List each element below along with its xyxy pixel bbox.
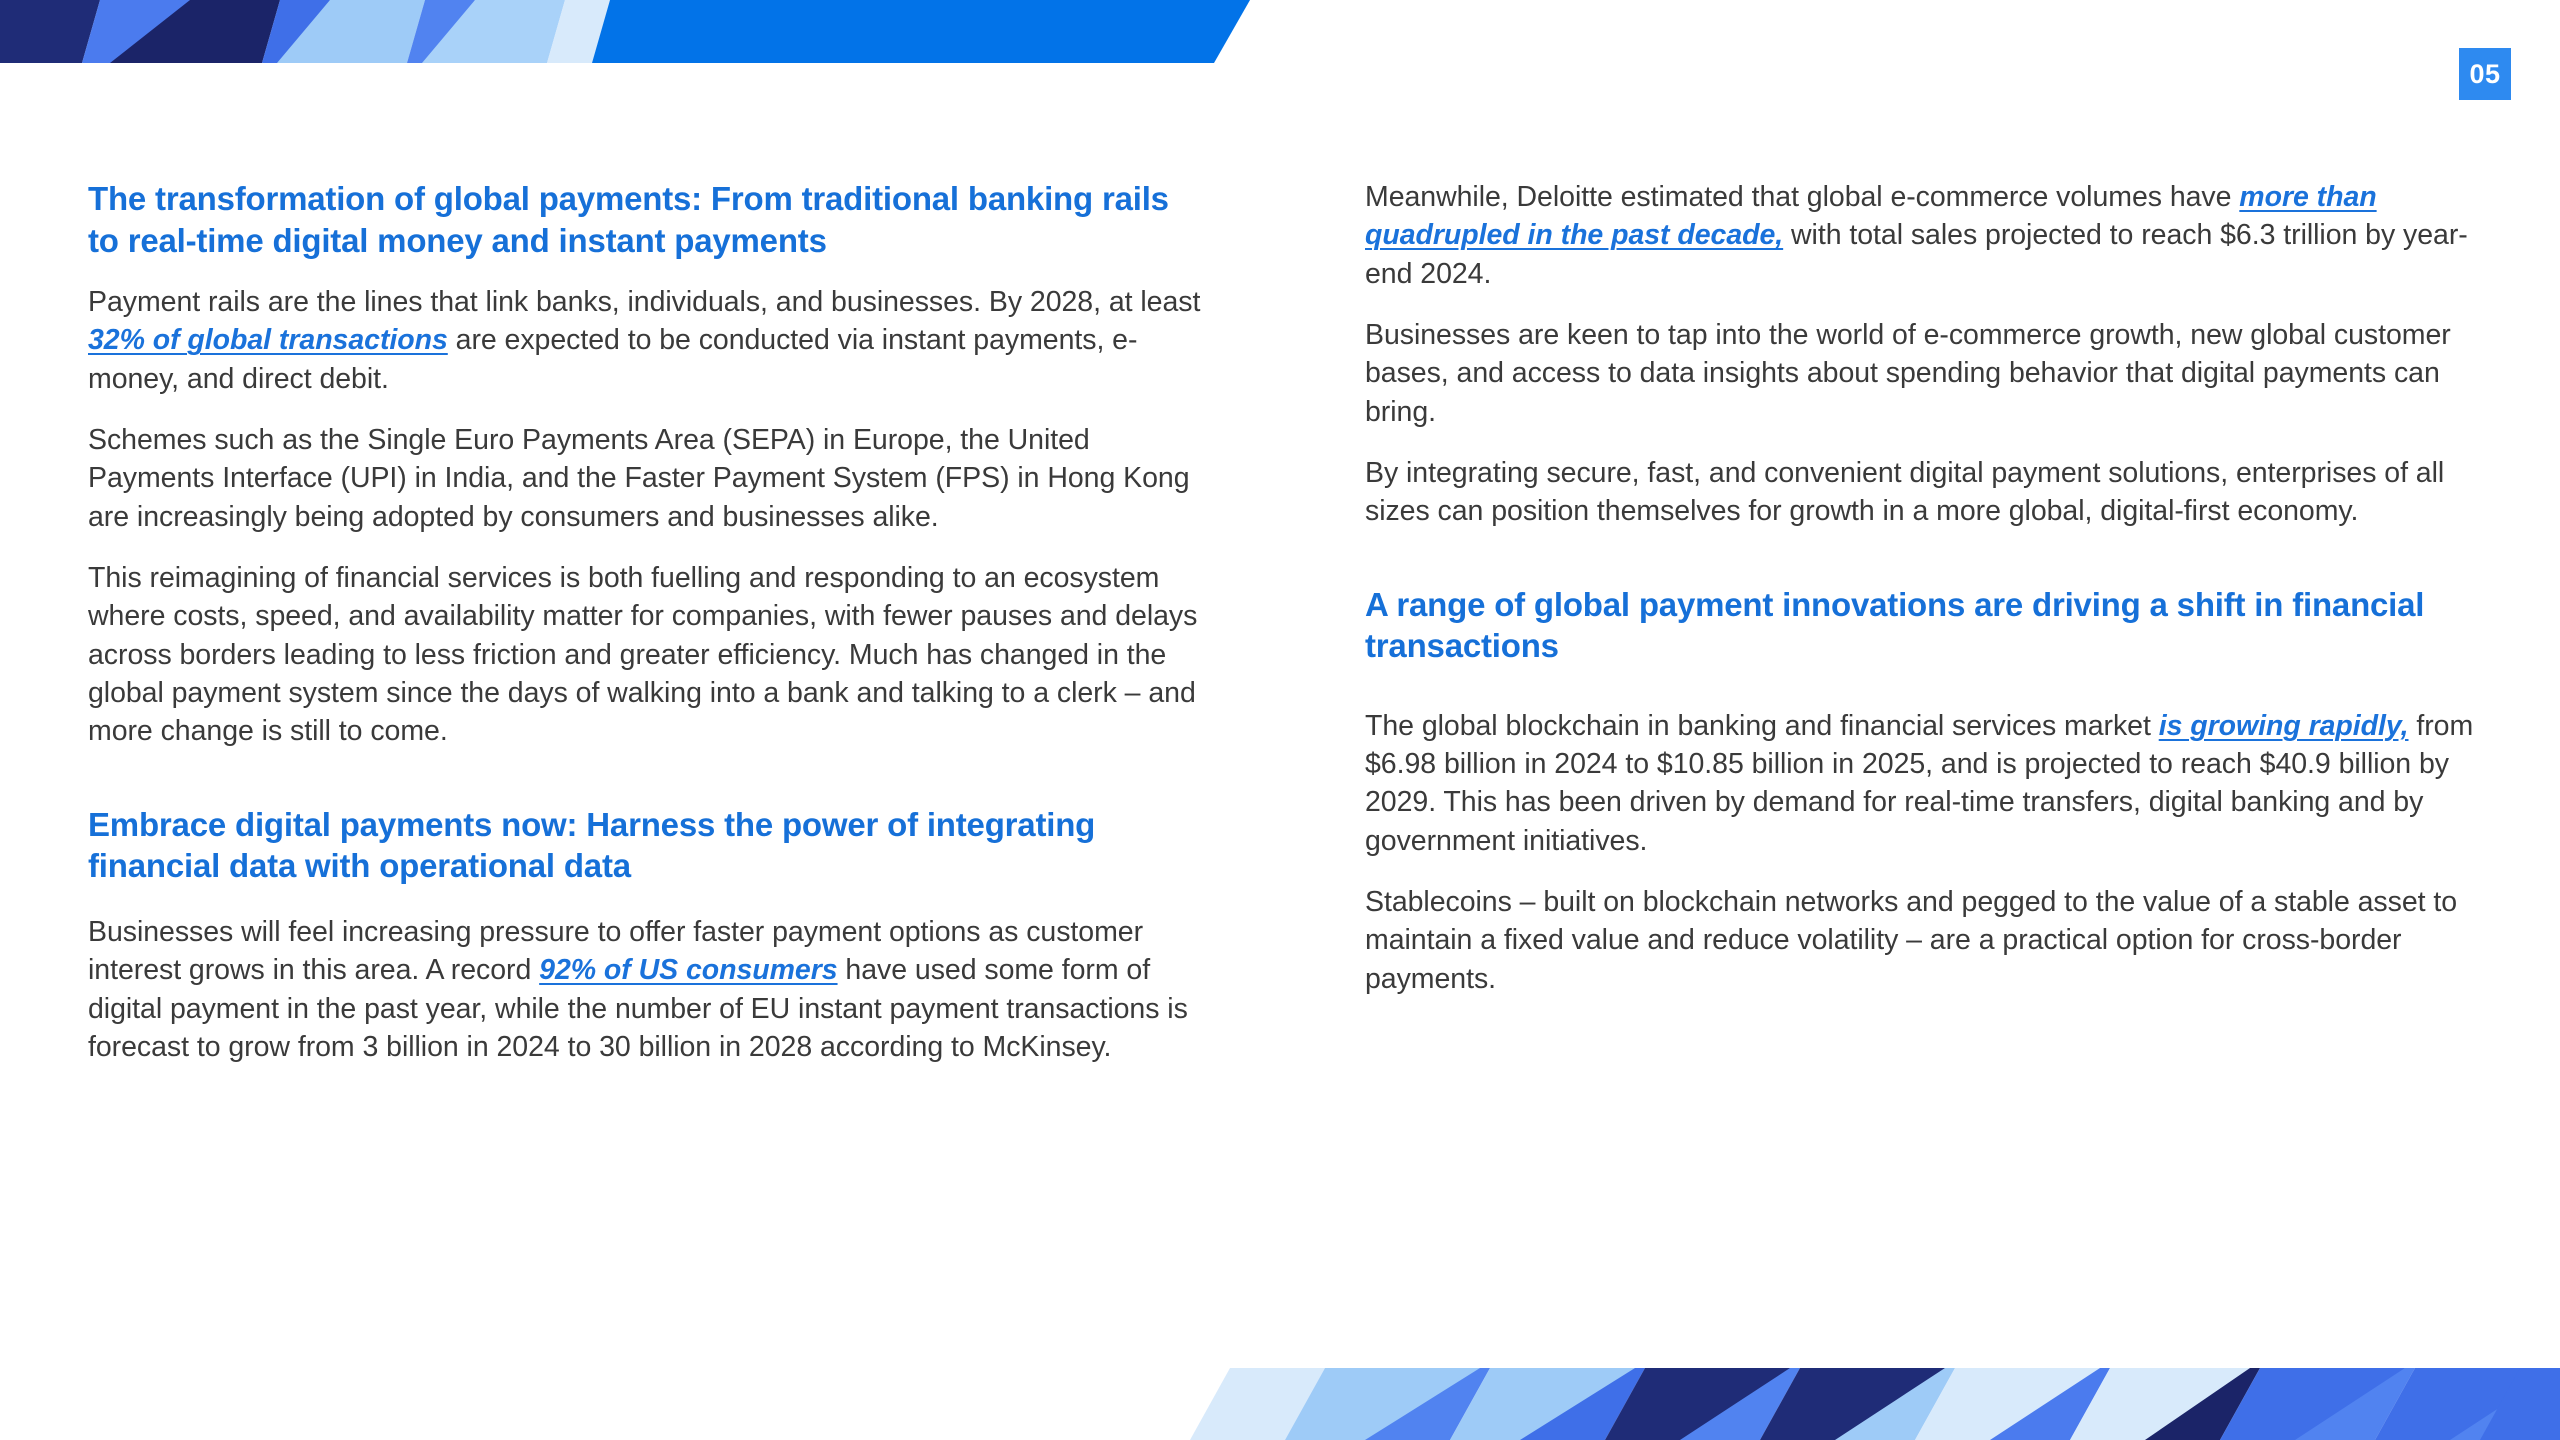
page-number-badge: 05 [2459,48,2511,100]
right-paragraph-deloitte: Meanwhile, Deloitte estimated that globa… [1365,178,2485,293]
right-column: Meanwhile, Deloitte estimated that globa… [1365,178,2485,998]
decorative-banner-bottom [1190,1368,2560,1440]
left-paragraph-businesses-pressure: Businesses will feel increasing pressure… [88,913,1203,1066]
left-heading-transformation: The transformation of global payments: F… [88,178,1203,261]
right-paragraph-blockchain-market: The global blockchain in banking and fin… [1365,707,2485,860]
right-paragraph-stablecoins: Stablecoins – built on blockchain networ… [1365,883,2485,998]
right-heading-payment-innovations: A range of global payment innovations ar… [1365,584,2485,667]
left-column-spacer [88,774,1203,804]
page-number-text: 05 [2469,61,2500,88]
left-para1-text-a: Payment rails are the lines that link ba… [88,286,1200,318]
left-paragraph-schemes: Schemes such as the Single Euro Payments… [88,421,1203,536]
left-paragraph-reimagining: This reimagining of financial services i… [88,559,1203,751]
link-is-growing-rapidly[interactable]: is growing rapidly, [2159,710,2409,742]
decorative-banner-top [0,0,1250,63]
link-32-percent-global-transactions[interactable]: 32% of global transactions [88,324,448,356]
right-para4-text-a: The global blockchain in banking and fin… [1365,710,2159,742]
right-paragraph-integrating-solutions: By integrating secure, fast, and conveni… [1365,454,2485,531]
right-para1-text-a: Meanwhile, Deloitte estimated that globa… [1365,181,2239,213]
bottom-banner-stripes [1190,1368,2560,1440]
link-92-percent-us-consumers[interactable]: 92% of US consumers [539,954,837,986]
right-paragraph-ecommerce-growth: Businesses are keen to tap into the worl… [1365,316,2485,431]
left-paragraph-payment-rails: Payment rails are the lines that link ba… [88,283,1203,398]
top-banner-stripes [0,0,1250,63]
right-heading-gap [1365,693,2485,707]
left-heading-embrace-digital-payments: Embrace digital payments now: Harness th… [88,804,1203,887]
right-column-spacer [1365,554,2485,584]
left-column: The transformation of global payments: F… [88,178,1203,1066]
